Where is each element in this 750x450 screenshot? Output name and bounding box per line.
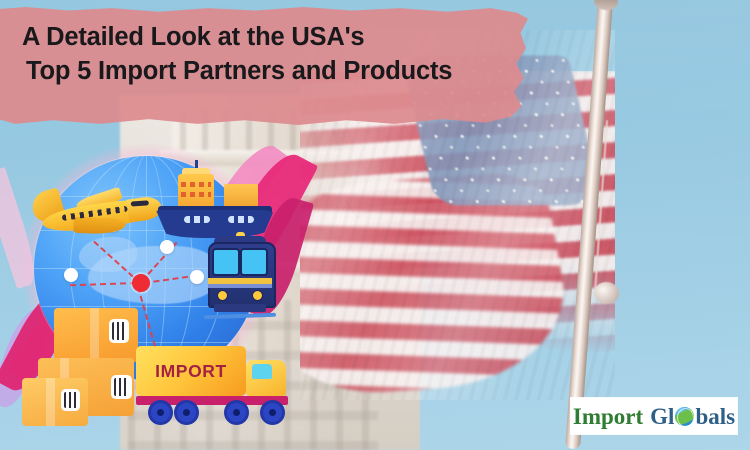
truck-cab-window <box>252 364 272 379</box>
box-front <box>22 378 88 426</box>
route-node <box>190 270 204 284</box>
box-top <box>54 308 138 362</box>
logistics-illustration: IMPORT <box>8 138 308 438</box>
ship-cabin-windows <box>181 192 211 197</box>
truck-wheel <box>148 400 173 425</box>
train-headlight-right <box>252 290 263 301</box>
logo-globe-icon <box>675 407 694 426</box>
route-hub-marker <box>132 274 150 292</box>
box-tape <box>90 308 99 362</box>
logo-word-import: Import <box>573 405 643 428</box>
title-line-2: Top 5 Import Partners and Products <box>22 54 522 88</box>
title-line-1: A Detailed Look at the USA's <box>22 23 364 51</box>
box-tape <box>46 378 55 426</box>
ship-portholes <box>184 216 210 223</box>
truck-wheel <box>260 400 285 425</box>
cargo-ship-icon <box>156 166 274 244</box>
box-barcode-label <box>64 392 77 408</box>
page-title: A Detailed Look at the USA's Top 5 Impor… <box>22 20 522 88</box>
ship-cabin-windows <box>181 182 211 187</box>
train-stripe-blue <box>208 284 272 288</box>
logo-word-bals: bals <box>695 405 735 428</box>
route-node <box>64 268 78 282</box>
train-icon <box>204 236 276 322</box>
train-skirt <box>214 304 266 312</box>
box-barcode-label <box>114 378 129 396</box>
train-track <box>204 313 276 320</box>
delivery-truck-icon: IMPORT <box>136 342 296 422</box>
logo-word-gl: Gl <box>650 405 674 428</box>
train-headlight-left <box>217 290 228 301</box>
box-barcode-label <box>112 322 126 340</box>
ship-cabin <box>178 174 214 208</box>
truck-import-label: IMPORT <box>136 346 246 396</box>
truck-wheel <box>224 400 249 425</box>
train-window-right <box>240 248 268 276</box>
import-globals-logo[interactable]: Import Gl bals <box>571 398 737 434</box>
ship-hull <box>156 210 274 238</box>
airplane-wing-near <box>73 217 126 235</box>
ship-portholes <box>228 216 254 223</box>
truck-wheel <box>174 400 199 425</box>
train-window-left <box>212 248 240 276</box>
banner-image: A Detailed Look at the USA's Top 5 Impor… <box>0 0 750 450</box>
